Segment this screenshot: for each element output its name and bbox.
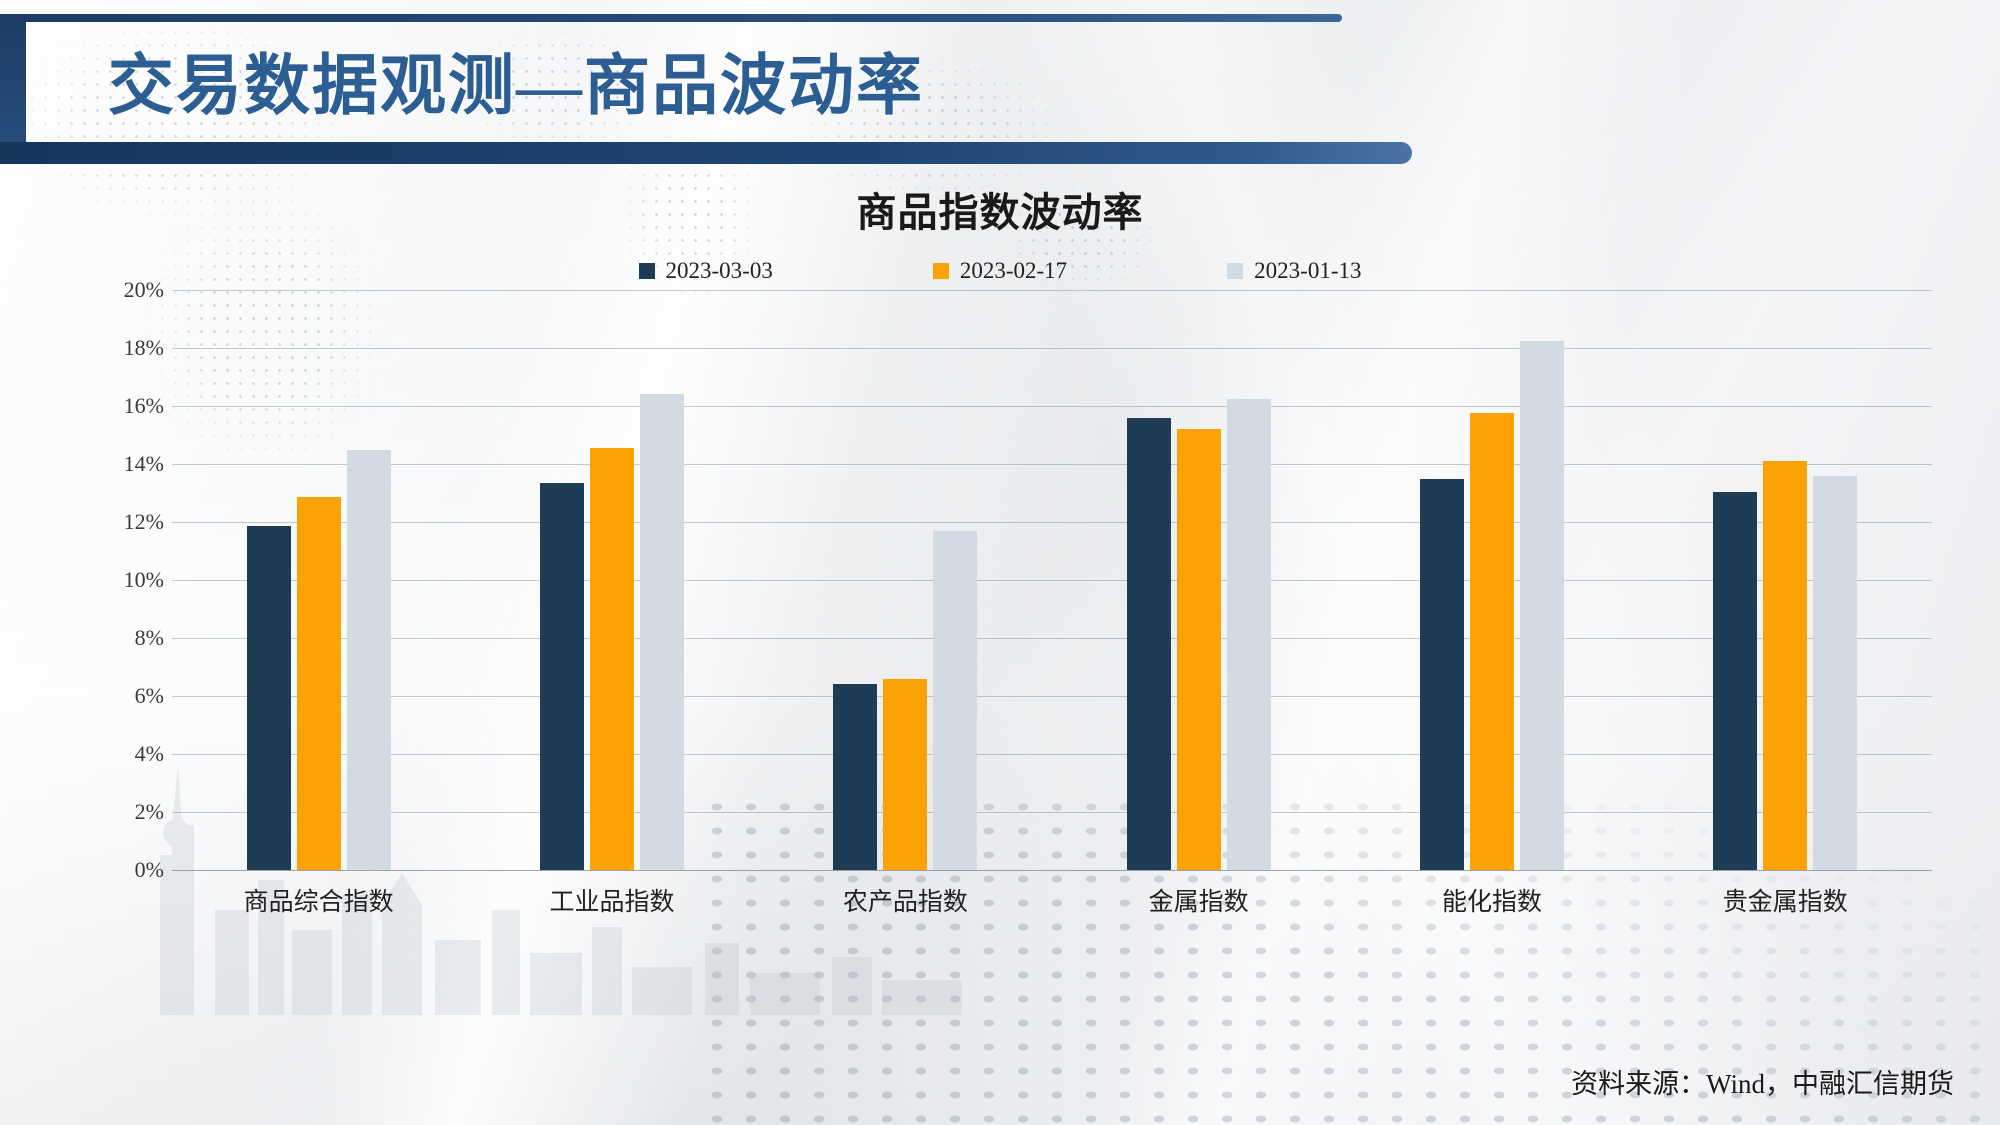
bar[interactable]	[883, 679, 927, 870]
legend-label: 2023-03-03	[666, 258, 773, 284]
chart-container: 商品指数波动率 2023-03-03 2023-02-17 2023-01-13…	[0, 180, 2000, 1030]
source-note: 资料来源：Wind，中融汇信期货	[1571, 1062, 1954, 1101]
bar[interactable]	[1763, 461, 1807, 870]
x-axis-tick-label: 金属指数	[1052, 882, 1345, 918]
bar[interactable]	[1127, 418, 1171, 870]
legend-item[interactable]: 2023-02-17	[933, 258, 1067, 284]
bar-group	[465, 290, 758, 870]
legend-item[interactable]: 2023-03-03	[639, 258, 773, 284]
bar[interactable]	[640, 394, 684, 870]
y-axis-tick-label: 16%	[124, 393, 164, 419]
title-block: 交易数据观测—商品波动率	[0, 14, 1412, 164]
x-axis-tick-label: 商品综合指数	[172, 882, 465, 918]
x-axis-tick-label: 能化指数	[1345, 882, 1638, 918]
x-axis-labels: 商品综合指数工业品指数农产品指数金属指数能化指数贵金属指数	[172, 882, 1932, 918]
x-axis-tick-label: 农产品指数	[759, 882, 1052, 918]
page-title: 交易数据观测—商品波动率	[108, 54, 924, 120]
gridline	[172, 870, 1932, 871]
y-axis-tick-label: 18%	[124, 335, 164, 361]
bar-group	[1639, 290, 1932, 870]
x-axis-tick-label: 工业品指数	[465, 882, 758, 918]
bar[interactable]	[1470, 413, 1514, 870]
y-axis-tick-label: 0%	[135, 857, 164, 883]
y-axis-tick-label: 4%	[135, 741, 164, 767]
legend-swatch-icon	[1227, 263, 1243, 279]
title-bottom-rule	[0, 142, 1412, 164]
legend-item[interactable]: 2023-01-13	[1227, 258, 1361, 284]
bar[interactable]	[833, 684, 877, 870]
bar[interactable]	[1713, 492, 1757, 870]
y-axis-tick-label: 20%	[124, 277, 164, 303]
y-axis-tick-label: 2%	[135, 799, 164, 825]
bar[interactable]	[1420, 479, 1464, 871]
chart-title: 商品指数波动率	[0, 180, 2000, 238]
bar[interactable]	[1520, 341, 1564, 870]
bar[interactable]	[933, 531, 977, 870]
y-axis-tick-label: 14%	[124, 451, 164, 477]
y-axis-tick-label: 8%	[135, 625, 164, 651]
bar[interactable]	[1227, 399, 1271, 870]
bar[interactable]	[247, 526, 291, 870]
bar[interactable]	[1177, 429, 1221, 870]
bar[interactable]	[347, 450, 391, 871]
y-axis-tick-label: 10%	[124, 567, 164, 593]
legend-swatch-icon	[639, 263, 655, 279]
bar[interactable]	[1813, 476, 1857, 870]
bar[interactable]	[540, 483, 584, 870]
legend-swatch-icon	[933, 263, 949, 279]
legend-label: 2023-02-17	[960, 258, 1067, 284]
chart-legend: 2023-03-03 2023-02-17 2023-01-13	[0, 258, 2000, 284]
bar-group	[1052, 290, 1345, 870]
bar-group	[172, 290, 465, 870]
bar[interactable]	[590, 448, 634, 870]
bar-group	[759, 290, 1052, 870]
bar-groups	[172, 290, 1932, 870]
y-axis-labels: 20%18%16%14%12%10%8%6%4%2%0%	[86, 290, 164, 870]
y-axis-tick-label: 12%	[124, 509, 164, 535]
bar[interactable]	[297, 497, 341, 870]
y-axis-tick-label: 6%	[135, 683, 164, 709]
bar-group	[1345, 290, 1638, 870]
title-top-rule	[0, 14, 1342, 22]
x-axis-tick-label: 贵金属指数	[1639, 882, 1932, 918]
plot-area: 20%18%16%14%12%10%8%6%4%2%0%	[172, 290, 1932, 870]
slide-canvas: 交易数据观测—商品波动率 商品指数波动率 2023-03-03 2023-02-…	[0, 0, 2000, 1125]
legend-label: 2023-01-13	[1254, 258, 1361, 284]
